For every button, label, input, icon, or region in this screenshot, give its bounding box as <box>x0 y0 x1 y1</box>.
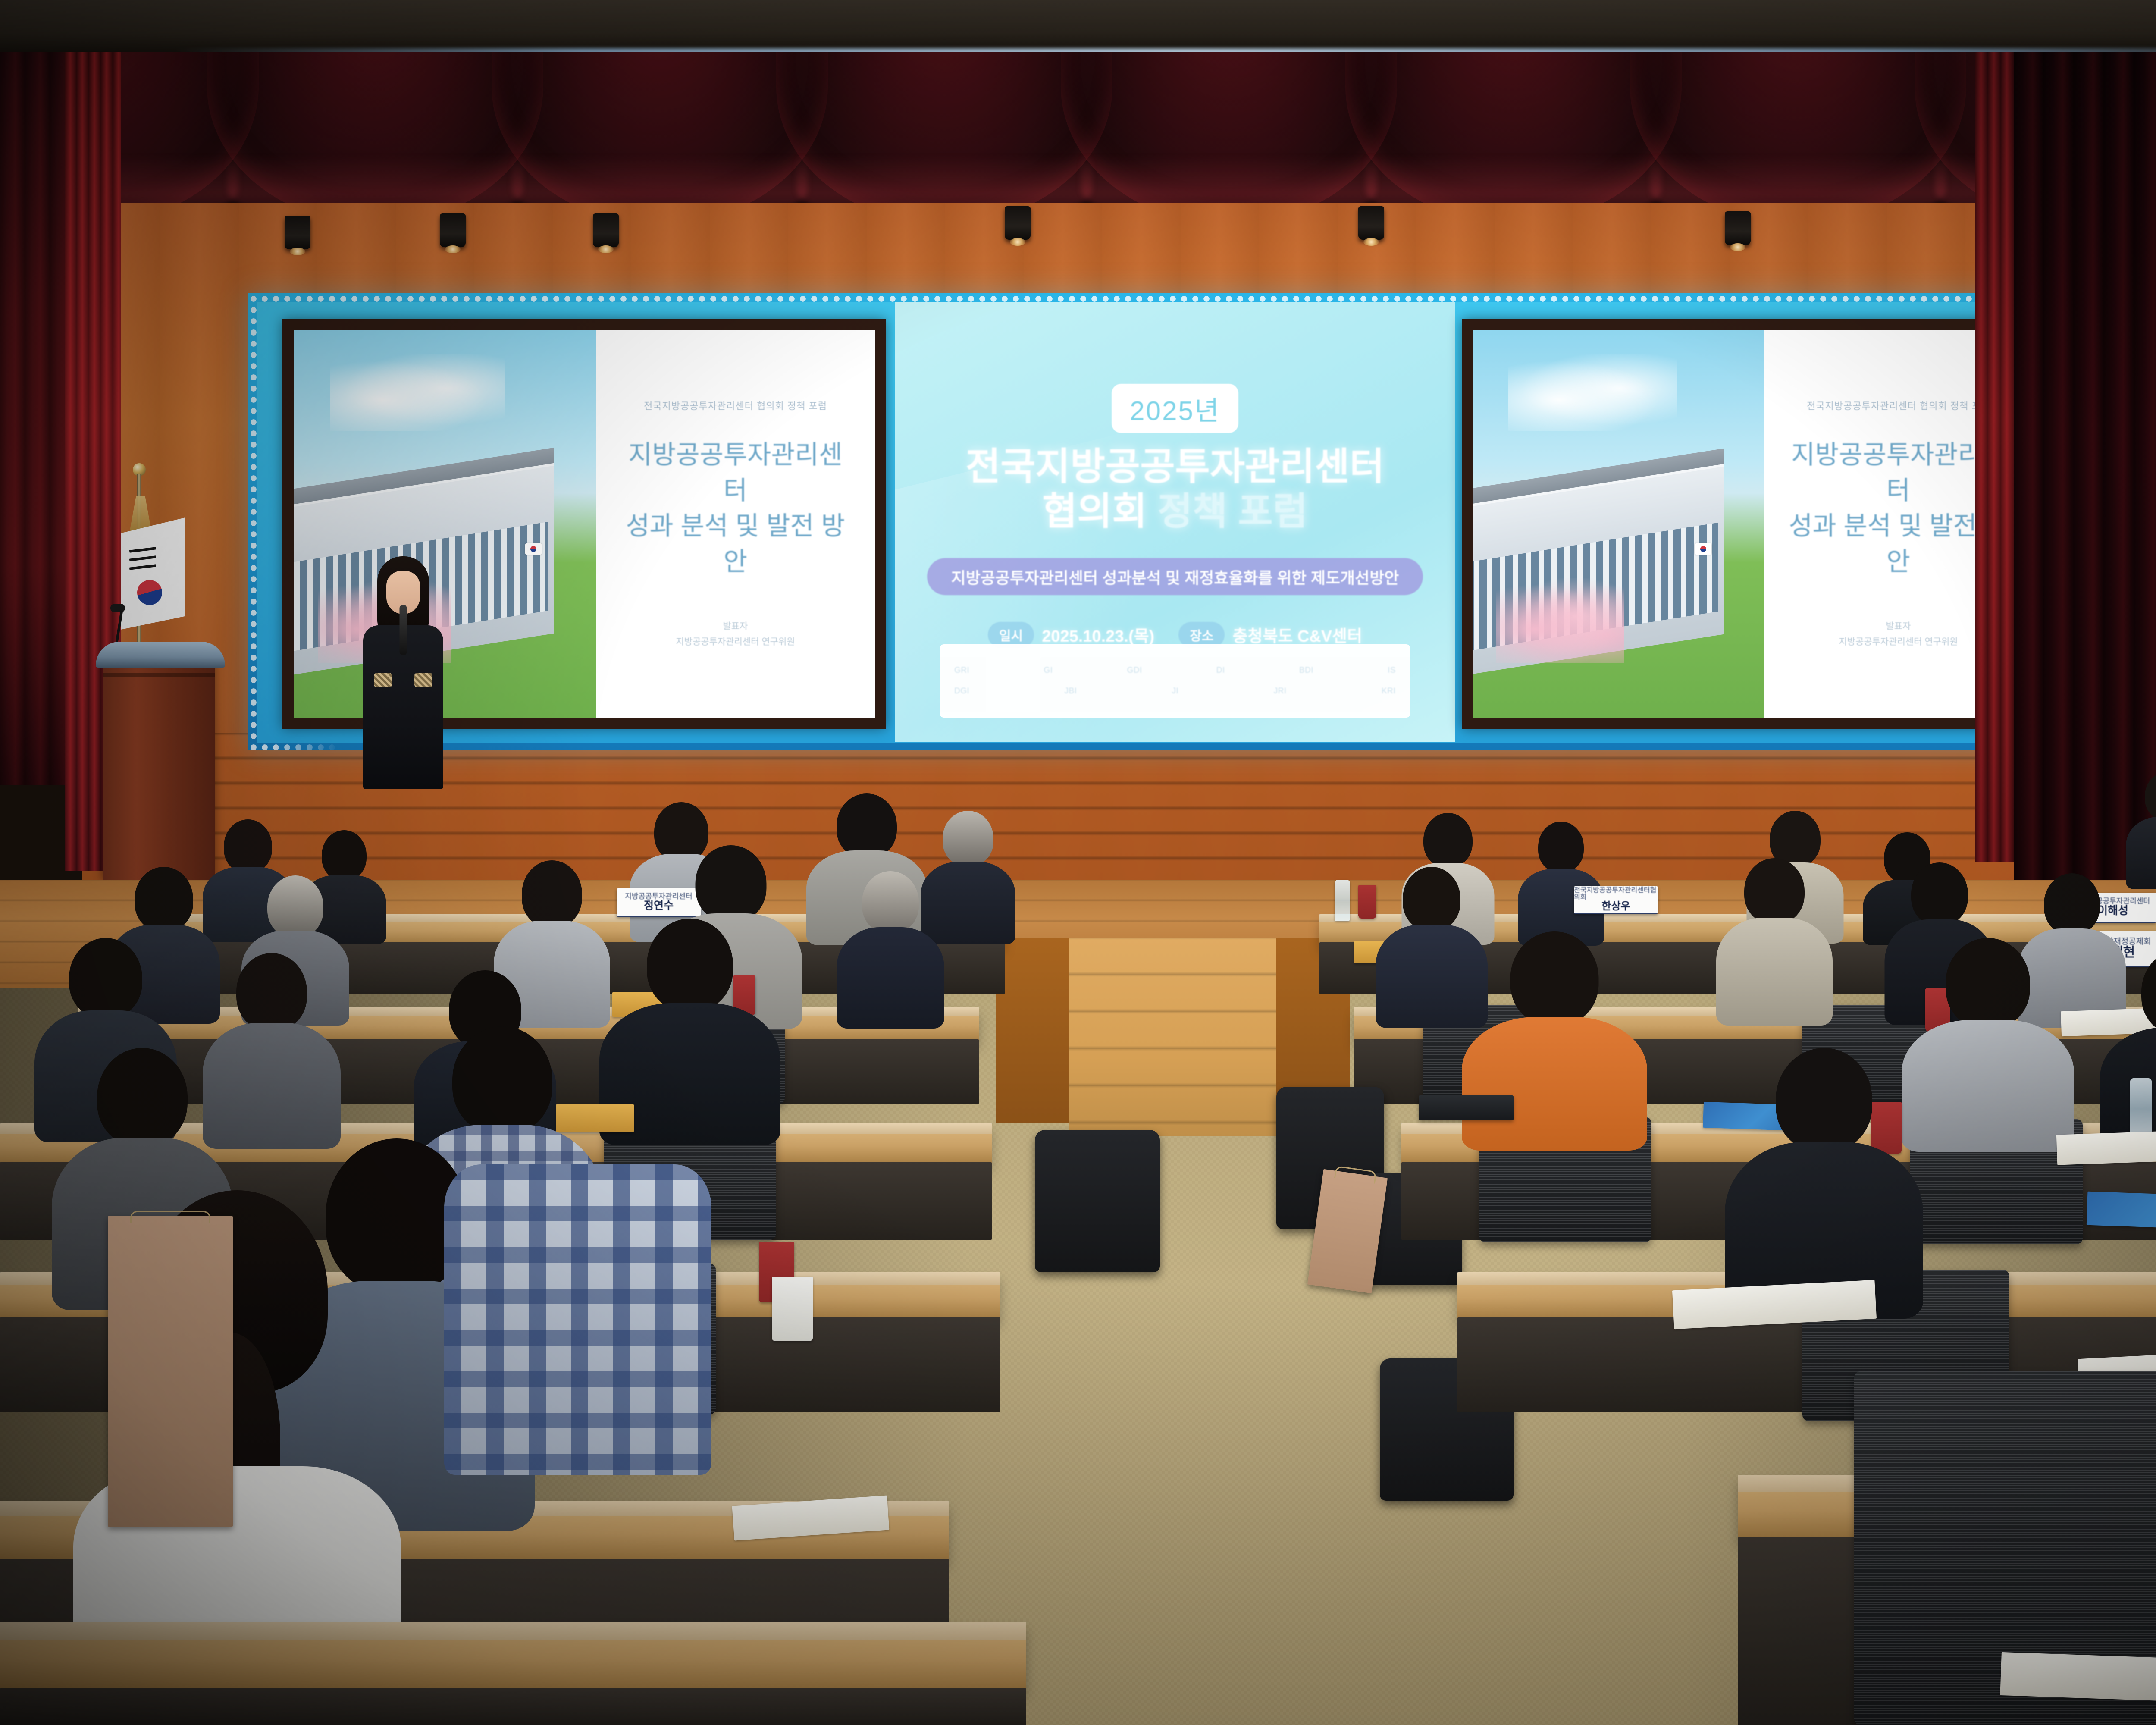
attendee-head <box>943 811 993 866</box>
slide-title-line2: 성과 분석 및 발전 방안 <box>619 508 852 580</box>
slide-text-left: 전국지방공공투자관리센터 협의회 정책 포럼 지방공공투자관리센터 성과 분석 … <box>596 330 875 718</box>
slide-footer-line2: 지방공공투자관리센터 연구위원 <box>1839 634 1958 650</box>
handout-papers <box>2000 1652 2156 1703</box>
name-placard: 전국지방공공투자관리센터협의회 한상우 <box>1574 886 1658 914</box>
attendee <box>837 871 944 1026</box>
banner-title-soft: 정책 포럼 <box>1158 490 1308 533</box>
podium-trim <box>103 673 215 677</box>
korean-national-flag <box>121 517 185 630</box>
attendee <box>2126 772 2156 888</box>
attendee-head <box>1776 1048 1872 1151</box>
banner-title-strong: 협의회 <box>1042 490 1147 533</box>
stage-light <box>1358 206 1384 240</box>
event-banner-center: 2025년 전국지방공공투자관리센터 협의회 정책 포럼 지방공공투자관리센터 … <box>895 302 1455 742</box>
sponsor-logo: DGI <box>954 687 969 696</box>
stage-light <box>1725 211 1751 245</box>
attendee-head <box>1538 822 1584 872</box>
sponsor-logo: DI <box>1216 666 1225 675</box>
sponsor-logo: JRI <box>1274 687 1287 696</box>
stage-light <box>1005 206 1031 240</box>
stage-step-side <box>996 938 1069 1123</box>
attendee <box>1902 938 2074 1149</box>
handheld-microphone-icon <box>400 605 407 655</box>
attendee-head <box>1423 813 1473 867</box>
banner-year: 2025년 <box>1112 384 1238 433</box>
auditorium-scene: 전국지방공공투자관리센터 협의회 정책 포럼 지방공공투자관리센터 성과 분석 … <box>0 0 2156 1725</box>
attendee-head <box>1510 931 1599 1026</box>
banner-date-value: 2025.10.23.(목) <box>1042 623 1154 646</box>
slide-footer-line1: 발표자 <box>676 619 795 634</box>
desk-row6 <box>0 1621 1026 1690</box>
slide-footer-line2: 지방공공투자관리센터 연구위원 <box>676 634 795 650</box>
presenter-cuff <box>414 673 432 687</box>
presentation-screen-right: 전국지방공공투자관리센터 협의회 정책 포럼 지방공공투자관리센터 성과 분석 … <box>1462 319 2044 729</box>
attendee-head <box>2044 873 2100 935</box>
attendee-head <box>2145 772 2156 820</box>
attendee-head <box>224 819 272 873</box>
attendee-head <box>2141 949 2156 1035</box>
gift-bag-on-desk <box>108 1216 233 1527</box>
attendee-head <box>452 1026 552 1134</box>
sponsor-logo: GRI <box>954 666 969 675</box>
paper-cup <box>772 1276 813 1341</box>
stage-curtain-right <box>2014 52 2156 897</box>
sponsor-logo: JBI <box>1064 687 1077 696</box>
attendee-head <box>862 871 919 933</box>
attendee-head <box>696 845 767 922</box>
banner-venue-value: 충청북도 C&V센터 <box>1232 623 1362 646</box>
stage-light <box>593 213 619 247</box>
banner-date-chip: 일시 <box>988 622 1034 648</box>
korean-flag-icon <box>1695 543 1711 555</box>
attendee-head <box>135 867 193 931</box>
attendee-head <box>322 830 367 880</box>
attendee-head <box>647 919 733 1011</box>
program-booklet <box>2087 1192 2156 1232</box>
attendee-head <box>97 1048 188 1146</box>
attendee <box>1716 858 1833 1024</box>
presenter-on-stage <box>360 556 446 789</box>
attendee <box>1518 822 1604 944</box>
sponsor-logo: GDI <box>1127 666 1142 675</box>
laptop <box>1419 1095 1514 1120</box>
attendee-head <box>69 938 142 1018</box>
sponsor-logo: JI <box>1172 687 1179 696</box>
banner-title-line1: 전국지방공공투자관리센터 <box>965 444 1385 489</box>
stage-light <box>285 216 310 249</box>
attendee <box>1725 1048 1923 1315</box>
handout-papers <box>2056 1129 2156 1165</box>
attendee-head <box>837 793 897 858</box>
attendee-head <box>522 860 582 928</box>
water-bottle <box>2130 1078 2152 1134</box>
attendee-torso <box>2126 817 2156 889</box>
stage-steps <box>1069 938 1276 1136</box>
water-bottle <box>1335 880 1350 921</box>
sponsor-logo: KRI <box>1382 687 1396 696</box>
attendee-head <box>236 953 307 1031</box>
attendee-torso <box>1716 918 1833 1026</box>
attendee-head <box>1911 862 1968 925</box>
sponsor-logo-bar: GRI GI GDI DI BDI IS DGI JBI JI JRI KRI <box>940 644 1410 718</box>
paper-cup <box>1358 885 1376 919</box>
banner-venue-chip: 장소 <box>1178 622 1225 648</box>
attendee-torso <box>837 927 944 1029</box>
attendee-plaid-shirt <box>444 1164 711 1475</box>
attendee-torso <box>1902 1020 2074 1152</box>
attendee-head <box>1946 938 2030 1029</box>
attendee-torso <box>1462 1017 1647 1151</box>
stage-light <box>440 213 466 247</box>
banner-subtitle: 지방공공투자관리센터 성과분석 및 재정효율화를 위한 제도개선방안 <box>927 558 1423 595</box>
attendee-head <box>1403 867 1460 931</box>
attendee <box>444 1164 711 1475</box>
slide-kicker: 전국지방공공투자관리센터 협의회 정책 포럼 <box>644 398 827 412</box>
backpack-on-floor <box>1035 1130 1160 1272</box>
desk-front-row6 <box>0 1688 1026 1725</box>
attendee-head <box>1744 858 1805 924</box>
sponsor-logo: IS <box>1388 666 1396 675</box>
korean-flag-icon <box>525 543 542 555</box>
presenter-cuff <box>374 673 392 687</box>
slide-photo-right <box>1473 330 1764 718</box>
ceiling <box>0 0 2156 56</box>
sponsor-logo: GI <box>1044 666 1053 675</box>
podium <box>103 660 215 880</box>
sponsor-logo: BDI <box>1299 666 1313 675</box>
slide-kicker: 전국지방공공투자관리센터 협의회 정책 포럼 <box>1807 398 1990 412</box>
attendee-head <box>267 875 323 938</box>
slide-footer-line1: 발표자 <box>1839 619 1958 634</box>
slide-title-line1: 지방공공투자관리센터 <box>619 437 852 509</box>
podium-top <box>96 642 225 668</box>
